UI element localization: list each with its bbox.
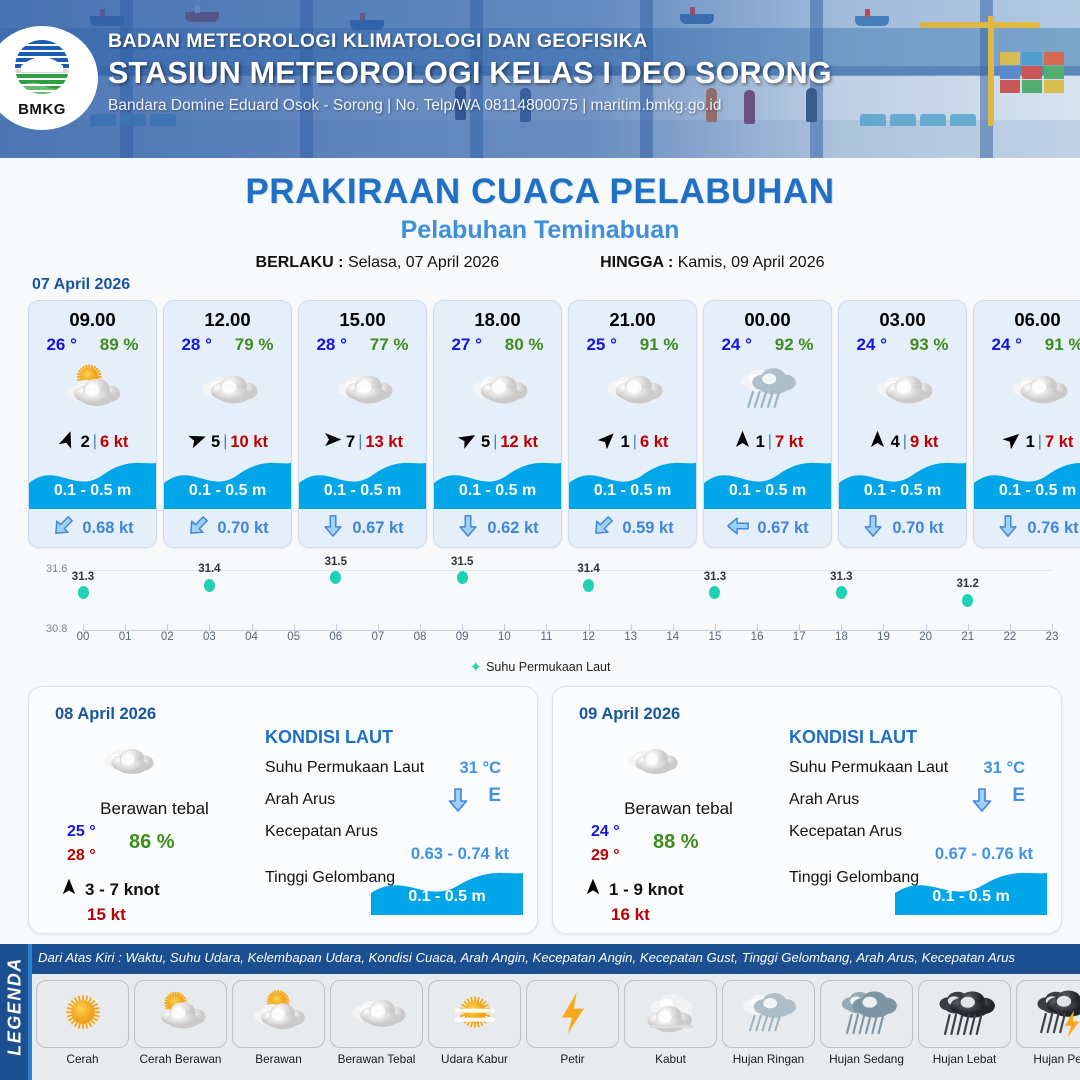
chart-x-tick-label: 22 — [997, 631, 1023, 643]
current-direction-arrow-icon — [445, 787, 471, 818]
panel-row-value-wave: 0.1 - 0.5 m — [895, 888, 1047, 906]
legend-cloud-sun-icon — [232, 980, 325, 1048]
panel-date: 09 April 2026 — [579, 705, 680, 724]
chart-x-tick — [83, 624, 84, 630]
bmkg-logo-text: BMKG — [18, 101, 66, 118]
chart-x-tick — [125, 624, 126, 630]
card-weather-berawan-icon — [569, 357, 696, 423]
current-direction-arrow-icon — [969, 787, 995, 818]
legend-item-label: Hujan Lebat — [918, 1052, 1011, 1066]
legend-item-label: Berawan Tebal — [330, 1052, 423, 1066]
legend-item: Hujan Lebat — [918, 980, 1011, 1066]
chart-x-tick-label: 03 — [196, 631, 222, 643]
legend-item-label: Hujan Petir — [1016, 1052, 1080, 1066]
legend-side-tab: LEGENDA — [0, 944, 28, 1080]
panel-humidity: 86 % — [129, 831, 175, 854]
legend-sun-icon — [36, 980, 129, 1048]
agency-name: BADAN METEOROLOGI KLIMATOLOGI DAN GEOFIS… — [108, 30, 832, 53]
chart-gridline — [83, 570, 1052, 571]
chart-x-tick — [167, 624, 168, 630]
contact-info: Bandara Domine Eduard Osok - Sorong | No… — [108, 97, 832, 115]
chart-x-axis — [83, 630, 1052, 631]
legend-note: Dari Atas Kiri : Waktu, Suhu Udara, Kele… — [38, 950, 1015, 965]
chart-legend-marker-icon: ✦ — [470, 658, 483, 676]
legend-cloud-icon — [330, 980, 423, 1048]
card-temperature: 27 ° — [451, 335, 481, 355]
valid-until-label: HINGGA : — [600, 254, 673, 271]
panel-temp-max: 29 ° — [591, 847, 620, 865]
current-direction-arrow-icon — [591, 514, 615, 543]
card-humidity: 79 % — [235, 335, 274, 355]
card-wave-height: 0.1 - 0.5 m — [569, 482, 696, 500]
card-weather-berawan-icon — [974, 357, 1080, 423]
legend-heavy-rain-icon — [918, 980, 1011, 1048]
chart-x-tick — [799, 624, 800, 630]
card-time: 21.00 — [569, 309, 696, 331]
chart-x-tick — [1052, 624, 1053, 630]
card-wave-height: 0.1 - 0.5 m — [974, 482, 1080, 500]
chart-x-tick — [841, 624, 842, 630]
valid-until-value: Kamis, 09 April 2026 — [678, 254, 825, 271]
card-wave-graphic: 0.1 - 0.5 m — [164, 443, 291, 509]
card-weather-hujan-ringan-icon — [704, 357, 831, 423]
chart-legend: ✦Suhu Permukaan Laut — [28, 658, 1052, 676]
legend-fog-icon — [624, 980, 717, 1048]
legend-note-bar: Dari Atas Kiri : Waktu, Suhu Udara, Kele… — [0, 944, 1080, 974]
card-wave-height: 0.1 - 0.5 m — [164, 482, 291, 500]
panel-row-value-current-dir: E — [1012, 785, 1025, 807]
legend-thunderstorm-icon — [1016, 980, 1080, 1048]
panel-wind-range: 3 - 7 knot — [85, 880, 160, 900]
daily-forecast-panels: 08 April 2026 Berawan tebal 25 ° 28 ° 86… — [28, 686, 1062, 934]
hourly-card: 00.00 24 ° 92 % 1 | 7 kt 0.1 - 0.5 m — [703, 300, 832, 548]
chart-x-tick-label: 04 — [239, 631, 265, 643]
legend-item: Hujan Ringan — [722, 980, 815, 1066]
panel-wind-range: 1 - 9 knot — [609, 880, 684, 900]
chart-x-tick — [546, 624, 547, 630]
panel-condition: Berawan tebal — [47, 799, 262, 819]
wind-direction-arrow-icon — [583, 877, 603, 902]
chart-x-tick-label: 06 — [323, 631, 349, 643]
chart-x-tick — [1010, 624, 1011, 630]
page-title: PRAKIRAAN CUACA PELABUHAN — [0, 172, 1080, 212]
card-humidity: 89 % — [100, 335, 139, 355]
legend-item-label: Cerah — [36, 1052, 129, 1066]
card-weather-cerah-berawan-icon — [29, 357, 156, 423]
legend-lightning-icon — [526, 980, 619, 1048]
hourly-card: 15.00 28 ° 77 % 7 | 13 kt 0.1 - 0.5 m — [298, 300, 427, 548]
panel-row-label-current-dir: Arah Arus — [265, 791, 335, 809]
card-current-speed: 0.59 kt — [622, 519, 673, 538]
card-current-speed: 0.62 kt — [487, 519, 538, 538]
daily-forecast-panel: 09 April 2026 Berawan tebal 24 ° 29 ° 88… — [552, 686, 1062, 934]
card-wave-graphic: 0.1 - 0.5 m — [434, 443, 561, 509]
panel-date: 08 April 2026 — [55, 705, 156, 724]
legend-item: Berawan — [232, 980, 325, 1066]
chart-x-tick-label: 12 — [576, 631, 602, 643]
chart-x-tick-label: 01 — [112, 631, 138, 643]
card-humidity: 80 % — [505, 335, 544, 355]
chart-x-tick-label: 02 — [154, 631, 180, 643]
chart-x-tick — [462, 624, 463, 630]
panel-wind: 1 - 9 knot — [583, 877, 684, 902]
chart-x-tick-label: 10 — [491, 631, 517, 643]
card-temperature: 28 ° — [316, 335, 346, 355]
card-temperature: 24 ° — [991, 335, 1021, 355]
card-temperature: 28 ° — [181, 335, 211, 355]
card-wave-height: 0.1 - 0.5 m — [434, 482, 561, 500]
chart-data-point — [836, 586, 847, 599]
card-wave-height: 0.1 - 0.5 m — [704, 482, 831, 500]
card-current-speed: 0.70 kt — [217, 519, 268, 538]
legend-item-label: Hujan Ringan — [722, 1052, 815, 1066]
card-humidity: 77 % — [370, 335, 409, 355]
legend-side-title: LEGENDA — [5, 948, 26, 1066]
panel-temp-max: 28 ° — [67, 847, 96, 865]
panel-row-value-sst: 31 °C — [984, 759, 1025, 778]
chart-point-label: 31.5 — [318, 556, 354, 568]
card-wave-height: 0.1 - 0.5 m — [29, 482, 156, 500]
legend-item-label: Kabut — [624, 1052, 717, 1066]
chart-point-label: 31.3 — [823, 571, 859, 583]
chart-y-tick-label: 30.8 — [46, 623, 67, 635]
chart-x-tick-label: 18 — [828, 631, 854, 643]
legend-item-label: Berawan — [232, 1052, 325, 1066]
legend-item: Hujan Petir — [1016, 980, 1080, 1066]
daily-forecast-panel: 08 April 2026 Berawan tebal 25 ° 28 ° 86… — [28, 686, 538, 934]
legend-item-label: Udara Kabur — [428, 1052, 521, 1066]
legend-item: Petir — [526, 980, 619, 1066]
validity-row: BERLAKU : Selasa, 07 April 2026 HINGGA :… — [0, 254, 1080, 272]
chart-point-label: 31.2 — [950, 578, 986, 590]
panel-sea-title: KONDISI LAUT — [789, 727, 917, 748]
legend-item: Cerah — [36, 980, 129, 1066]
legend-item: Berawan Tebal — [330, 980, 423, 1066]
legend-accent-bar — [28, 944, 32, 1080]
chart-x-tick-label: 17 — [786, 631, 812, 643]
panel-row-label-current-speed: Kecepatan Arus — [265, 823, 378, 841]
current-direction-arrow-icon — [186, 514, 210, 543]
panel-weather-berawan-tebal-icon — [87, 735, 167, 789]
card-weather-berawan-icon — [299, 357, 426, 423]
chart-x-tick — [504, 624, 505, 630]
panel-temp-min: 25 ° — [67, 823, 96, 841]
card-humidity: 92 % — [775, 335, 814, 355]
card-wave-height: 0.1 - 0.5 m — [299, 482, 426, 500]
card-temperature: 24 ° — [856, 335, 886, 355]
card-time: 09.00 — [29, 309, 156, 331]
card-humidity: 91 % — [1045, 335, 1080, 355]
hourly-date-label: 07 April 2026 — [32, 276, 130, 294]
chart-x-tick-label: 09 — [449, 631, 475, 643]
chart-point-label: 31.3 — [65, 571, 101, 583]
chart-x-tick-label: 20 — [913, 631, 939, 643]
chart-point-label: 31.3 — [697, 571, 733, 583]
chart-data-point — [330, 571, 341, 584]
chart-x-tick — [926, 624, 927, 630]
card-current-speed: 0.70 kt — [892, 519, 943, 538]
chart-x-tick-label: 21 — [955, 631, 981, 643]
panel-wind: 3 - 7 knot — [59, 877, 160, 902]
hourly-card: 06.00 24 ° 91 % 1 | 7 kt 0.1 - 0.5 m — [973, 300, 1080, 548]
current-direction-arrow-icon — [996, 514, 1020, 543]
card-weather-berawan-icon — [164, 357, 291, 423]
chart-x-tick — [378, 624, 379, 630]
panel-gust: 16 kt — [611, 905, 650, 925]
card-wave-graphic: 0.1 - 0.5 m — [974, 443, 1080, 509]
chart-data-point — [962, 594, 973, 607]
chart-x-tick-label: 16 — [744, 631, 770, 643]
chart-legend-label: Suhu Permukaan Laut — [486, 660, 610, 674]
legend-item: Kabut — [624, 980, 717, 1066]
chart-data-point — [78, 586, 89, 599]
page-subtitle: Pelabuhan Teminabuan — [0, 216, 1080, 245]
panel-row-value-wave: 0.1 - 0.5 m — [371, 888, 523, 906]
card-time: 18.00 — [434, 309, 561, 331]
card-time: 06.00 — [974, 309, 1080, 331]
card-humidity: 93 % — [910, 335, 949, 355]
card-current-speed: 0.68 kt — [82, 519, 133, 538]
chart-x-tick — [252, 624, 253, 630]
current-direction-arrow-icon — [861, 514, 885, 543]
chart-x-tick — [757, 624, 758, 630]
chart-x-tick-label: 13 — [618, 631, 644, 643]
card-wave-height: 0.1 - 0.5 m — [839, 482, 966, 500]
legend-item: Cerah Berawan — [134, 980, 227, 1066]
chart-data-point — [457, 571, 468, 584]
chart-x-tick — [673, 624, 674, 630]
panel-weather-berawan-tebal-icon — [611, 735, 691, 789]
chart-x-tick-label: 07 — [365, 631, 391, 643]
hourly-forecast-row: 09.00 26 ° 89 % 2 | 6 kt 0.1 - 0.5 m — [28, 300, 1080, 548]
chart-x-tick — [420, 624, 421, 630]
card-weather-berawan-icon — [839, 357, 966, 423]
panel-row-label-current-dir: Arah Arus — [789, 791, 859, 809]
panel-wave-graphic: 0.1 - 0.5 m — [371, 857, 523, 915]
card-wave-graphic: 0.1 - 0.5 m — [704, 443, 831, 509]
chart-x-tick-label: 11 — [533, 631, 559, 643]
panel-row-value-sst: 31 °C — [460, 759, 501, 778]
card-wave-graphic: 0.1 - 0.5 m — [569, 443, 696, 509]
station-name: STASIUN METEOROLOGI KELAS I DEO SORONG — [108, 56, 832, 91]
card-time: 15.00 — [299, 309, 426, 331]
legend-item-label: Cerah Berawan — [134, 1052, 227, 1066]
panel-sea-title: KONDISI LAUT — [265, 727, 393, 748]
card-wave-graphic: 0.1 - 0.5 m — [839, 443, 966, 509]
legend-haze-icon — [428, 980, 521, 1048]
hourly-card: 18.00 27 ° 80 % 5 | 12 kt 0.1 - 0.5 m — [433, 300, 562, 548]
chart-x-tick-label: 00 — [70, 631, 96, 643]
card-time: 03.00 — [839, 309, 966, 331]
card-temperature: 24 ° — [721, 335, 751, 355]
card-time: 12.00 — [164, 309, 291, 331]
chart-data-point — [583, 579, 594, 592]
card-humidity: 91 % — [640, 335, 679, 355]
chart-x-tick — [631, 624, 632, 630]
sst-chart: ✦Suhu Permukaan Laut 31.630.800010203040… — [28, 558, 1052, 678]
chart-x-tick-label: 15 — [702, 631, 728, 643]
legend-light-rain-icon — [722, 980, 815, 1048]
chart-x-tick — [294, 624, 295, 630]
chart-point-label: 31.4 — [191, 563, 227, 575]
card-time: 00.00 — [704, 309, 831, 331]
panel-humidity: 88 % — [653, 831, 699, 854]
current-direction-arrow-icon — [51, 514, 75, 543]
legend-item: Udara Kabur — [428, 980, 521, 1066]
chart-x-tick-label: 08 — [407, 631, 433, 643]
current-direction-arrow-icon — [726, 514, 750, 543]
chart-x-tick — [209, 624, 210, 630]
legend-item: Hujan Sedang — [820, 980, 913, 1066]
hourly-card: 12.00 28 ° 79 % 5 | 10 kt 0.1 - 0.5 m — [163, 300, 292, 548]
legend-item-label: Petir — [526, 1052, 619, 1066]
current-direction-arrow-icon — [456, 514, 480, 543]
legend-section: Dari Atas Kiri : Waktu, Suhu Udara, Kele… — [0, 944, 1080, 1080]
chart-x-tick-label: 19 — [870, 631, 896, 643]
panel-row-value-current-dir: E — [488, 785, 501, 807]
card-temperature: 25 ° — [586, 335, 616, 355]
card-current-speed: 0.76 kt — [1027, 519, 1078, 538]
hourly-card: 03.00 24 ° 93 % 4 | 9 kt 0.1 - 0.5 m — [838, 300, 967, 548]
chart-data-point — [709, 586, 720, 599]
chart-x-tick — [589, 624, 590, 630]
current-direction-arrow-icon — [321, 514, 345, 543]
panel-wave-graphic: 0.1 - 0.5 m — [895, 857, 1047, 915]
valid-from-value: Selasa, 07 April 2026 — [348, 254, 499, 271]
card-wave-graphic: 0.1 - 0.5 m — [29, 443, 156, 509]
panel-temp-min: 24 ° — [591, 823, 620, 841]
valid-from-label: BERLAKU : — [256, 254, 344, 271]
bmkg-logo-mark — [11, 38, 73, 100]
chart-point-label: 31.5 — [444, 556, 480, 568]
hourly-card: 21.00 25 ° 91 % 1 | 6 kt 0.1 - 0.5 m — [568, 300, 697, 548]
card-current-speed: 0.67 kt — [352, 519, 403, 538]
card-current-speed: 0.67 kt — [757, 519, 808, 538]
panel-gust: 15 kt — [87, 905, 126, 925]
card-temperature: 26 ° — [46, 335, 76, 355]
panel-row-label-sst: Suhu Permukaan Laut — [789, 759, 948, 777]
panel-condition: Berawan tebal — [571, 799, 786, 819]
chart-x-tick — [883, 624, 884, 630]
chart-data-point — [204, 579, 215, 592]
card-wave-graphic: 0.1 - 0.5 m — [299, 443, 426, 509]
hourly-card: 09.00 26 ° 89 % 2 | 6 kt 0.1 - 0.5 m — [28, 300, 157, 548]
chart-point-label: 31.4 — [571, 563, 607, 575]
legend-items: Cerah Cerah Berawan Berawan Berawan Teba… — [36, 980, 1080, 1066]
chart-x-tick-label: 05 — [281, 631, 307, 643]
panel-row-label-current-speed: Kecepatan Arus — [789, 823, 902, 841]
title-block: PRAKIRAAN CUACA PELABUHAN Pelabuhan Temi… — [0, 158, 1080, 272]
chart-x-tick — [968, 624, 969, 630]
legend-item-label: Hujan Sedang — [820, 1052, 913, 1066]
page-header: BMKG BADAN METEOROLOGI KLIMATOLOGI DAN G… — [0, 0, 1080, 158]
card-weather-berawan-icon — [434, 357, 561, 423]
chart-x-tick — [336, 624, 337, 630]
chart-x-tick — [715, 624, 716, 630]
legend-sun-cloud-icon — [134, 980, 227, 1048]
legend-moderate-rain-icon — [820, 980, 913, 1048]
panel-row-label-sst: Suhu Permukaan Laut — [265, 759, 424, 777]
chart-x-tick-label: 14 — [660, 631, 686, 643]
chart-x-tick-label: 23 — [1039, 631, 1065, 643]
wind-direction-arrow-icon — [59, 877, 79, 902]
